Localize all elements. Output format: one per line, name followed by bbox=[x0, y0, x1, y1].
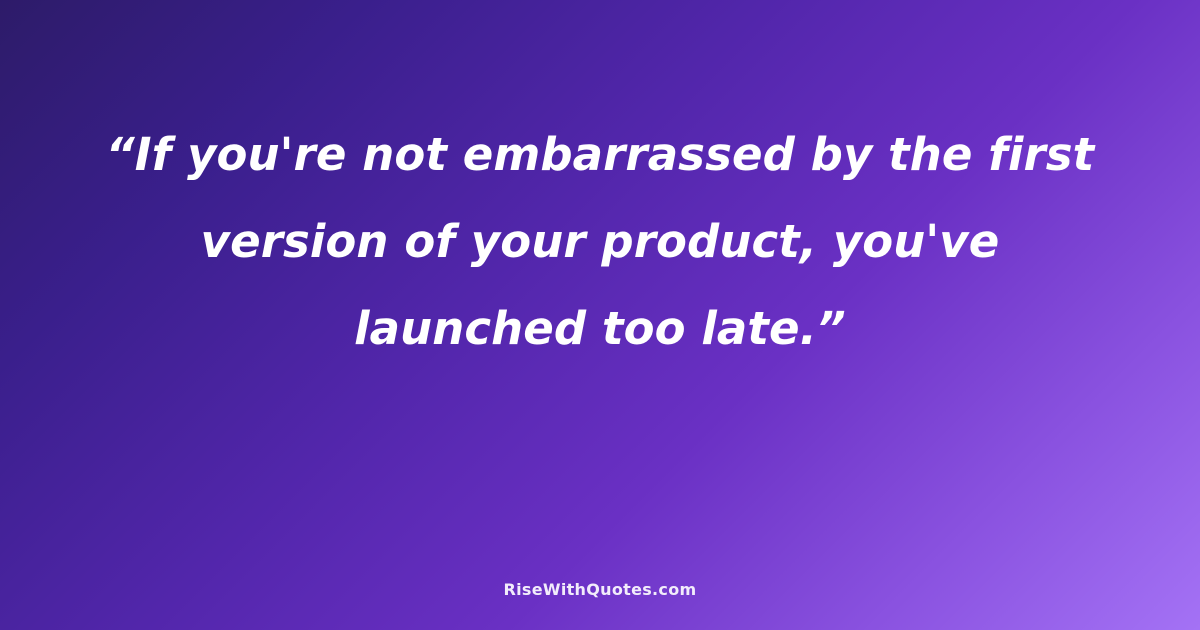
quote-block: “If you're not embarrassed by the first … bbox=[95, 111, 1105, 372]
footer-attribution: RiseWithQuotes.com bbox=[0, 580, 1200, 599]
site-name-label: RiseWithQuotes.com bbox=[504, 580, 697, 599]
quote-text: “If you're not embarrassed by the first … bbox=[95, 111, 1105, 372]
quote-card: “If you're not embarrassed by the first … bbox=[0, 0, 1200, 630]
